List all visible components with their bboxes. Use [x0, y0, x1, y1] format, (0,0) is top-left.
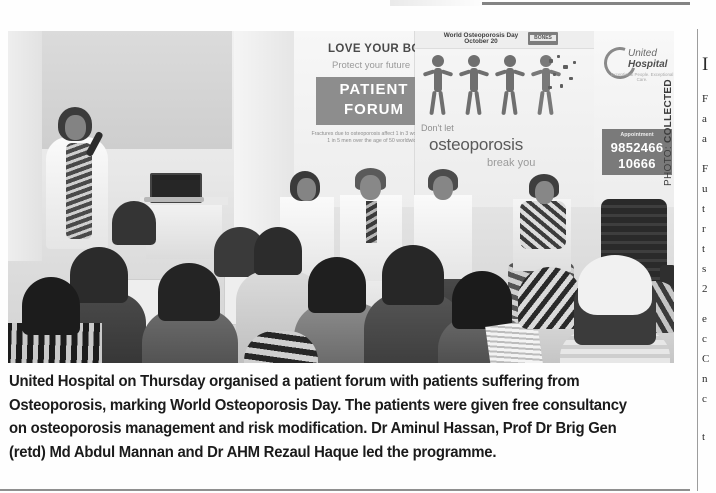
- audience-member: [112, 201, 156, 245]
- photo-credit-value: COLLECTED: [663, 79, 674, 143]
- adjacent-column-line: a: [702, 132, 707, 146]
- audience-member-headscarf: [518, 267, 582, 329]
- figure-icon-3: [497, 55, 523, 117]
- wod-date-text: October 20: [464, 38, 497, 45]
- adjacent-column-line: n: [702, 372, 708, 386]
- adjacent-column-line: c: [702, 392, 707, 406]
- adjacent-column-line: t: [702, 242, 705, 256]
- top-cutoff-bar: [482, 2, 690, 5]
- appointment-label: Appointment: [602, 132, 672, 138]
- audience-member: [22, 277, 80, 335]
- adjacent-column-line: e: [702, 312, 707, 326]
- audience-member: [308, 257, 366, 313]
- adjacent-column-line: t: [702, 430, 705, 444]
- united-hospital-board: United Hospital Exceptional People. Exce…: [594, 31, 674, 207]
- bottom-rule: [0, 489, 690, 491]
- panelist-3-face: [433, 176, 453, 200]
- adjacent-column-line: C: [702, 352, 709, 366]
- hospital-name-line2: Hospital: [628, 59, 667, 70]
- osteoporosis-headline: osteoporosis: [429, 135, 523, 155]
- adjacent-column-line: s: [702, 262, 706, 276]
- adjacent-column-line: F: [702, 162, 708, 176]
- newspaper-page: LOVE YOUR BONES Protect your future PATI…: [0, 0, 716, 493]
- speaker-face: [65, 115, 86, 140]
- panelist-4-face: [535, 181, 554, 204]
- bones-logo-icon: BONES: [528, 32, 558, 45]
- appointment-number-primary: 9852466: [602, 140, 672, 155]
- adjacent-column-line: u: [702, 182, 708, 196]
- audience-member: [382, 245, 444, 305]
- adjacent-column-line: r: [702, 222, 706, 236]
- break-you-text: break you: [487, 157, 535, 169]
- appointment-box: Appointment 9852466 10666: [602, 129, 672, 175]
- photo-credit: PHOTO: COLLECTED: [663, 66, 677, 186]
- bones-badge-label: BONES: [530, 35, 556, 41]
- audience-member: [254, 227, 302, 275]
- world-osteoporosis-day-strip: World Osteoporosis Day October 20 BONES: [415, 31, 594, 49]
- laptop-base: [144, 197, 204, 202]
- photo-scene: LOVE YOUR BONES Protect your future PATI…: [8, 31, 674, 363]
- audience-member: [158, 263, 220, 321]
- audience-member: [70, 247, 128, 303]
- audience-member: [452, 271, 512, 329]
- crumbling-particles-graphic: [547, 53, 583, 97]
- panelist-2-face: [360, 175, 381, 200]
- hospital-name-line1: United: [628, 48, 657, 59]
- panelist-2-tie: [366, 201, 377, 243]
- adjacent-column-line: 2: [702, 282, 708, 296]
- adjacent-column-dropcap: I: [702, 54, 708, 76]
- speaker-scarf: [66, 143, 92, 239]
- adjacent-column-line: c: [702, 332, 707, 346]
- adjacent-column-sliver: I F a a F u t r t s 2 e c C n c t: [702, 30, 716, 485]
- audience-member-prayer-cap: [578, 255, 652, 315]
- adjacent-column-line: F: [702, 92, 708, 106]
- figure-icon-2: [461, 55, 487, 117]
- panelist-4-scarf: [520, 201, 566, 249]
- top-cutoff-ghost: [390, 0, 486, 6]
- photo-credit-label: PHOTO:: [663, 146, 674, 186]
- panelist-1-face: [297, 178, 316, 201]
- column-rule: [697, 29, 698, 491]
- podium: [146, 201, 222, 259]
- photo-caption: United Hospital on Thursday organised a …: [9, 370, 643, 464]
- adjacent-column-line: a: [702, 112, 707, 126]
- dont-let-text: Don't let: [421, 123, 454, 133]
- figure-icon-1: [425, 55, 451, 117]
- adjacent-column-line: t: [702, 202, 705, 216]
- world-osteoporosis-day-title: World Osteoporosis Day October 20: [421, 33, 541, 46]
- news-photo: LOVE YOUR BONES Protect your future PATI…: [8, 31, 674, 363]
- appointment-number-secondary: 10666: [602, 156, 672, 171]
- wall-column-left: [8, 31, 42, 261]
